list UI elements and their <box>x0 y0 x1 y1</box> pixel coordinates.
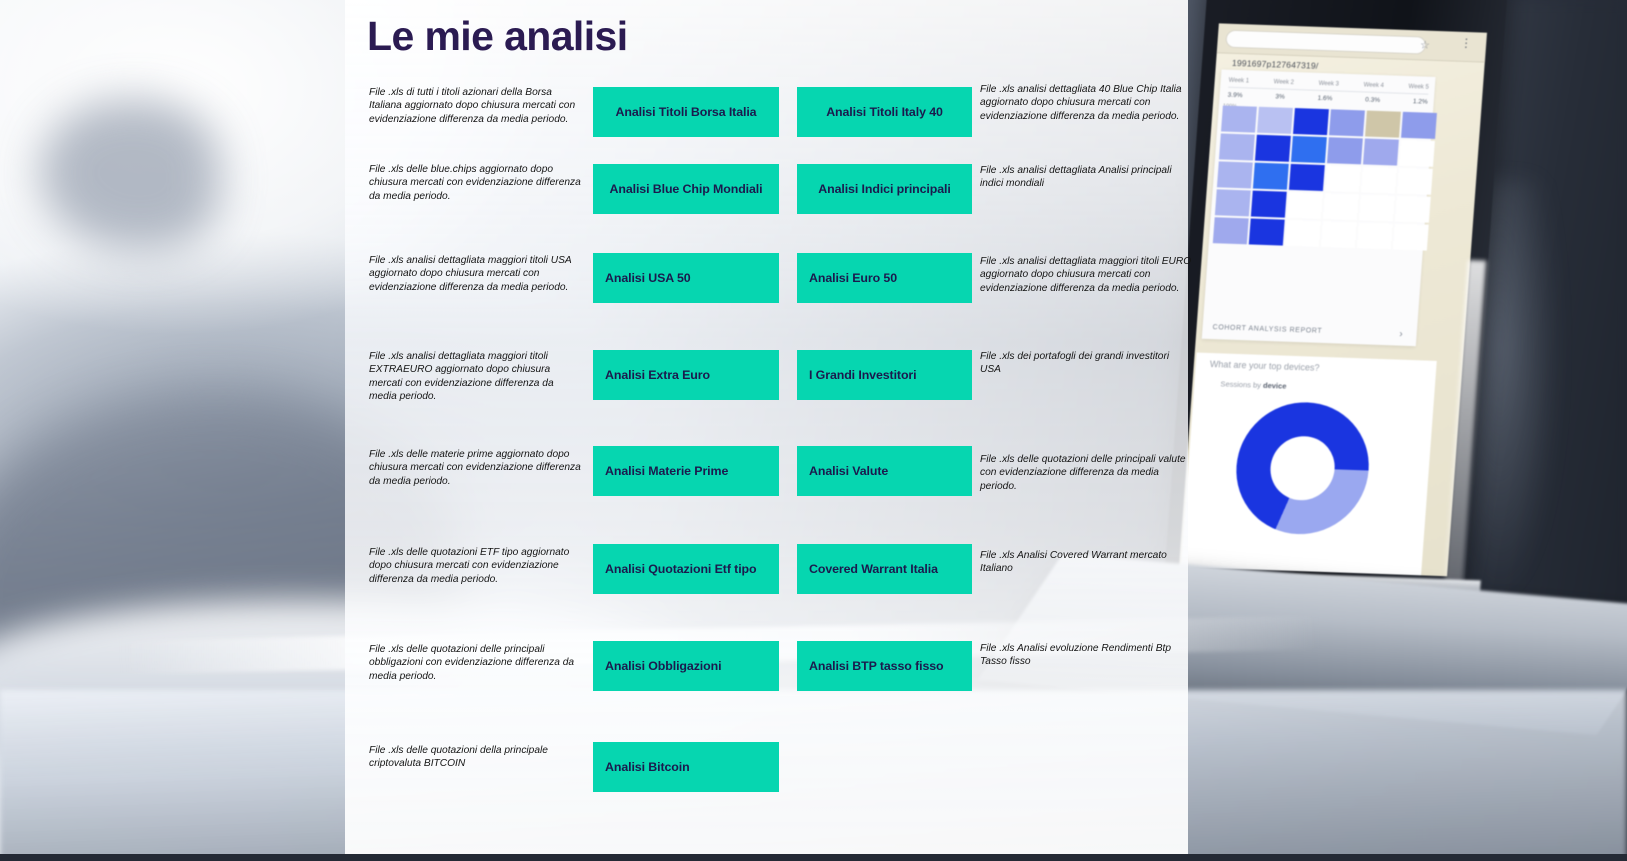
analysis-button-left[interactable]: Analisi Materie Prime <box>593 446 779 496</box>
analysis-button-left[interactable]: Analisi Obbligazioni <box>593 641 779 691</box>
row-description-left: File .xls di tutti i titoli azionari del… <box>369 86 581 126</box>
row-description-right: File .xls Analisi evoluzione Rendimenti … <box>980 642 1192 669</box>
analysis-button-left[interactable]: Analisi Bitcoin <box>593 742 779 792</box>
row-description-left: File .xls delle quotazioni delle princip… <box>369 643 581 683</box>
page-title: Le mie analisi <box>367 14 628 59</box>
analysis-button-right[interactable]: Analisi Indici principali <box>797 164 972 214</box>
row-description-right: File .xls Analisi Covered Warrant mercat… <box>980 549 1192 576</box>
analysis-button-right[interactable]: I Grandi Investitori <box>797 350 972 400</box>
row-description-right: File .xls analisi dettagliata 40 Blue Ch… <box>980 83 1192 123</box>
row-description-left: File .xls delle quotazioni della princip… <box>369 744 581 771</box>
row-description-left: File .xls delle quotazioni ETF tipo aggi… <box>369 546 581 586</box>
analysis-button-left[interactable]: Analisi Titoli Borsa Italia <box>593 87 779 137</box>
analysis-button-left[interactable]: Analisi USA 50 <box>593 253 779 303</box>
analysis-button-left[interactable]: Analisi Quotazioni Etf tipo <box>593 544 779 594</box>
page-root: ☆ ⋮ 1991697p127647319/ Week 1 Week 2 Wee… <box>0 0 1627 861</box>
row-description-right: File .xls analisi dettagliata maggiori t… <box>980 255 1192 295</box>
analysis-button-right[interactable]: Analisi Titoli Italy 40 <box>797 87 972 137</box>
row-description-right: File .xls analisi dettagliata Analisi pr… <box>980 164 1192 191</box>
analysis-button-right[interactable]: Analisi Euro 50 <box>797 253 972 303</box>
row-description-right: File .xls delle quotazioni delle princip… <box>980 453 1192 493</box>
row-description-left: File .xls analisi dettagliata maggiori t… <box>369 254 581 294</box>
row-description-left: File .xls analisi dettagliata maggiori t… <box>369 350 581 404</box>
content-layer: Le mie analisi File .xls di tutti i tito… <box>0 0 1627 861</box>
analysis-button-right[interactable]: Covered Warrant Italia <box>797 544 972 594</box>
row-description-left: File .xls delle blue.chips aggiornato do… <box>369 163 581 203</box>
row-description-left: File .xls delle materie prime aggiornato… <box>369 448 581 488</box>
analysis-button-left[interactable]: Analisi Blue Chip Mondiali <box>593 164 779 214</box>
row-description-right: File .xls dei portafogli dei grandi inve… <box>980 350 1192 377</box>
analysis-button-left[interactable]: Analisi Extra Euro <box>593 350 779 400</box>
analysis-button-right[interactable]: Analisi BTP tasso fisso <box>797 641 972 691</box>
bottom-edge-strip <box>0 854 1627 861</box>
analysis-button-right[interactable]: Analisi Valute <box>797 446 972 496</box>
